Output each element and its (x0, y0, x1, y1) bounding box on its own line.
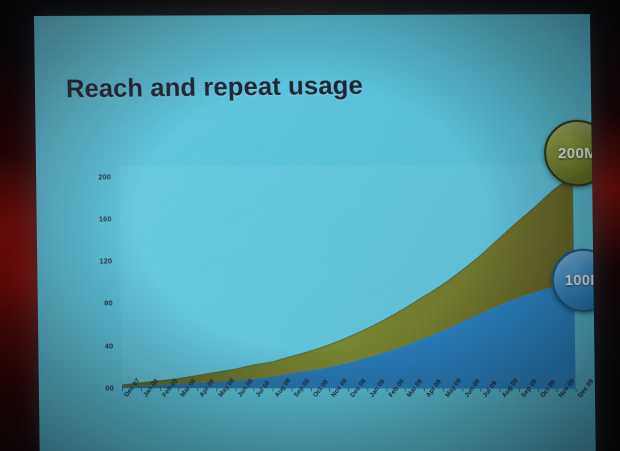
x-axis-tick (291, 388, 292, 391)
x-axis-tick (367, 388, 368, 391)
x-axis: Dec 07Jan 08Feb 08Mar 08Apr 08May 08Jun … (122, 388, 576, 437)
x-axis-tick (141, 388, 142, 391)
x-axis-tick (160, 388, 161, 391)
x-axis-tick (386, 388, 387, 391)
area-series-group (119, 165, 577, 390)
y-axis-tick-label: 80 (79, 299, 113, 308)
x-axis-tick (405, 388, 406, 391)
y-axis-tick-label: 00 (80, 384, 114, 393)
x-axis-tick (538, 389, 539, 392)
x-axis-tick (481, 389, 482, 392)
x-axis-tick (462, 389, 463, 392)
total-reach-callout-label: 200M (558, 144, 596, 161)
y-axis-tick-label: 160 (78, 214, 112, 223)
x-axis-tick (329, 388, 330, 391)
x-axis-tick (178, 388, 179, 391)
photo-of-projected-slide: Reach and repeat usage 004080120160200 D… (0, 0, 620, 451)
x-axis-tick (424, 389, 425, 392)
x-axis-tick (122, 388, 123, 391)
x-axis-tick (519, 389, 520, 392)
page-title: Reach and repeat usage (66, 72, 364, 105)
x-axis-tick (197, 388, 198, 391)
x-axis-tick (216, 388, 217, 391)
y-axis: 004080120160200 (67, 136, 115, 436)
x-axis-tick-label: Dec 09 (577, 378, 596, 399)
y-axis-tick-label: 120 (78, 257, 112, 266)
x-axis-tick (273, 388, 274, 391)
presentation-slide: Reach and repeat usage 004080120160200 D… (34, 14, 596, 451)
x-axis-tick (254, 388, 255, 391)
stacked-area-chart: 004080120160200 Dec 07Jan 08Feb 08Mar 08… (59, 135, 585, 437)
x-axis-tick (500, 389, 501, 392)
x-axis-tick (348, 388, 349, 391)
y-axis-tick-label: 200 (77, 172, 111, 181)
x-axis-tick (443, 389, 444, 392)
x-axis-tick (310, 388, 311, 391)
y-axis-tick-label: 40 (79, 341, 113, 350)
repeat-usage-callout-label: 100M (565, 272, 596, 288)
x-axis-tick (576, 389, 577, 392)
x-axis-tick (557, 389, 558, 392)
x-axis-tick (235, 388, 236, 391)
